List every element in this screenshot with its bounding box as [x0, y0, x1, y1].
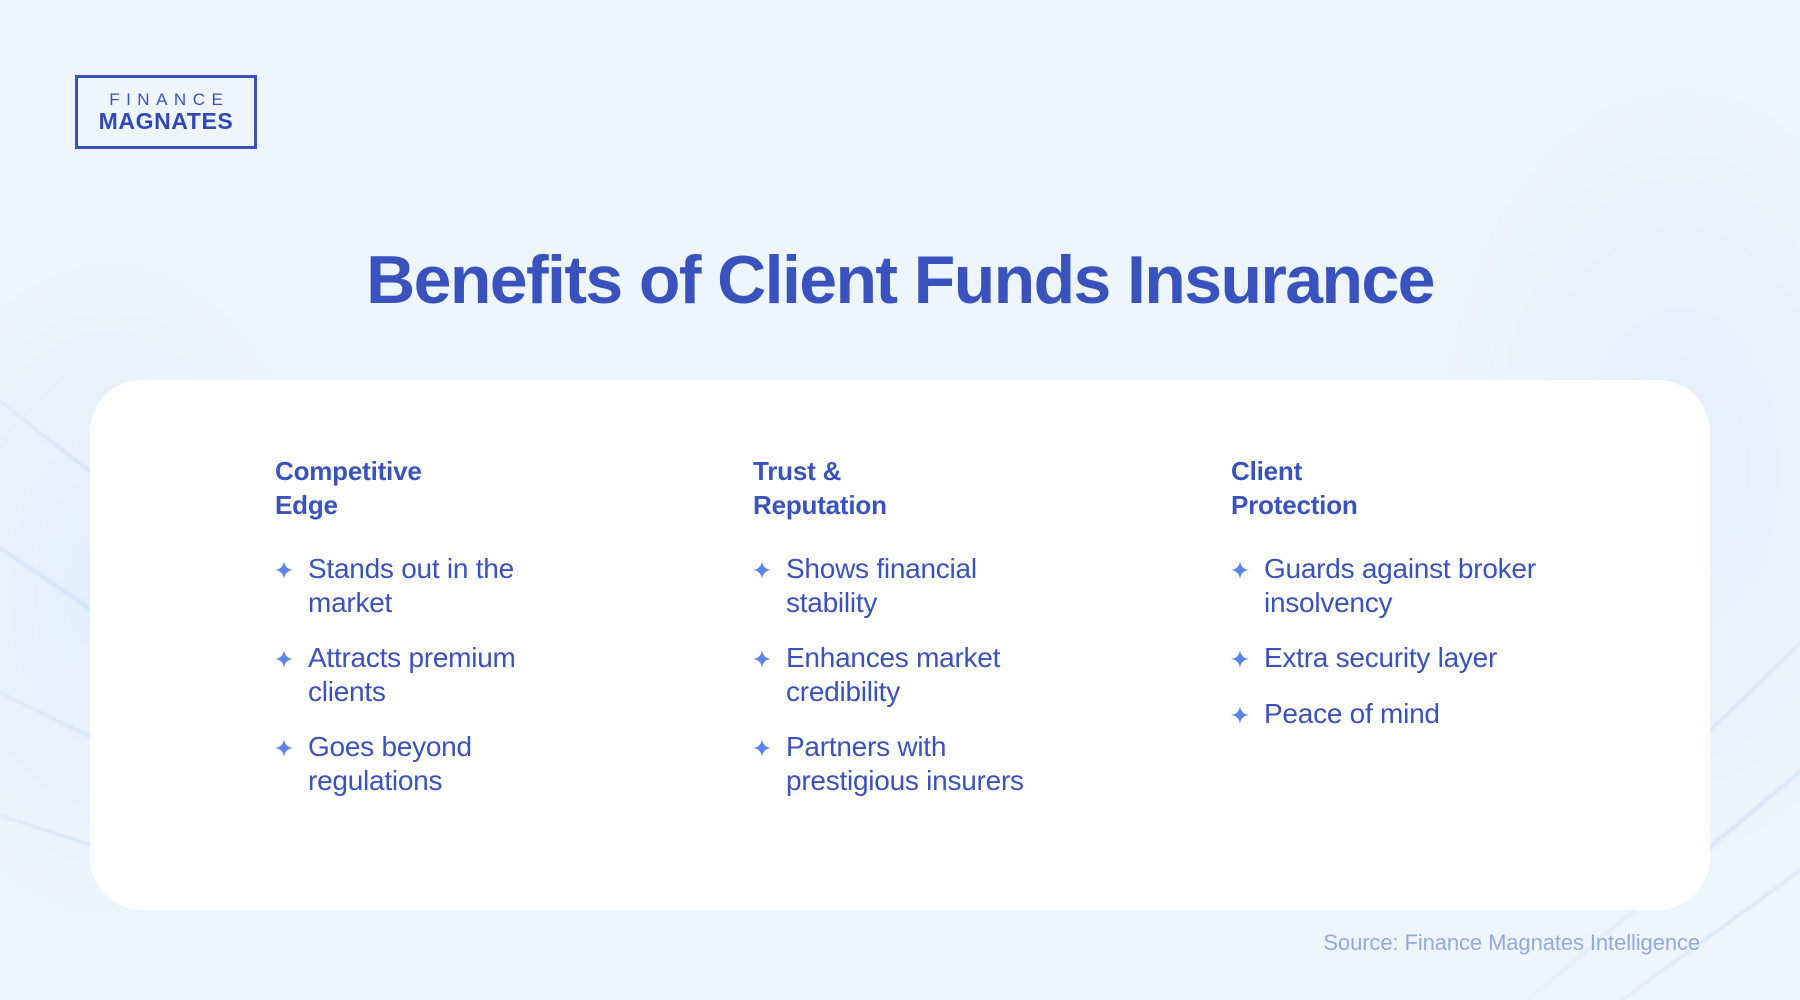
sparkle-icon — [275, 650, 293, 668]
benefit-list: Stands out in the market Attracts premiu… — [275, 552, 753, 798]
benefit-text: Guards against broker insolvency — [1264, 552, 1594, 619]
list-item: Enhances market credibility — [753, 641, 1231, 708]
sparkle-icon — [753, 561, 771, 579]
sparkle-icon — [753, 650, 771, 668]
benefits-card: Competitive Edge Stands out in the marke… — [90, 380, 1710, 910]
benefit-text: Extra security layer — [1264, 641, 1497, 675]
benefit-column-client-protection: Client Protection Guards against broker … — [1231, 455, 1671, 798]
sparkle-icon — [275, 561, 293, 579]
benefit-text: Stands out in the market — [308, 552, 573, 619]
sparkle-icon — [1231, 650, 1249, 668]
benefit-column-competitive-edge: Competitive Edge Stands out in the marke… — [275, 455, 753, 798]
logo-text-finance: FINANCE — [103, 91, 230, 108]
sparkle-icon — [275, 739, 293, 757]
sparkle-icon — [1231, 561, 1249, 579]
benefit-text: Peace of mind — [1264, 697, 1440, 731]
benefit-text: Shows financial stability — [786, 552, 1061, 619]
benefit-list: Shows financial stability Enhances marke… — [753, 552, 1231, 798]
list-item: Goes beyond regulations — [275, 730, 753, 797]
list-item: Stands out in the market — [275, 552, 753, 619]
list-item: Extra security layer — [1231, 641, 1671, 675]
list-item: Attracts premium clients — [275, 641, 753, 708]
benefit-text: Enhances market credibility — [786, 641, 1061, 708]
list-item: Peace of mind — [1231, 697, 1671, 731]
list-item: Guards against broker insolvency — [1231, 552, 1671, 619]
page-title: Benefits of Client Funds Insurance — [0, 245, 1800, 316]
sparkle-icon — [753, 739, 771, 757]
logo-text-magnates: MAGNATES — [99, 110, 234, 133]
benefit-text: Attracts premium clients — [308, 641, 573, 708]
benefit-list: Guards against broker insolvency Extra s… — [1231, 552, 1671, 730]
column-heading: Competitive Edge — [275, 455, 485, 522]
column-heading: Trust & Reputation — [753, 455, 963, 522]
column-heading: Client Protection — [1231, 455, 1411, 522]
sparkle-icon — [1231, 706, 1249, 724]
benefit-text: Goes beyond regulations — [308, 730, 573, 797]
benefits-columns: Competitive Edge Stands out in the marke… — [90, 455, 1710, 798]
list-item: Shows financial stability — [753, 552, 1231, 619]
list-item: Partners with prestigious insurers — [753, 730, 1231, 797]
benefit-column-trust-reputation: Trust & Reputation Shows financial stabi… — [753, 455, 1231, 798]
source-attribution: Source: Finance Magnates Intelligence — [1323, 930, 1700, 956]
finance-magnates-logo: FINANCE MAGNATES — [75, 75, 257, 149]
benefit-text: Partners with prestigious insurers — [786, 730, 1061, 797]
